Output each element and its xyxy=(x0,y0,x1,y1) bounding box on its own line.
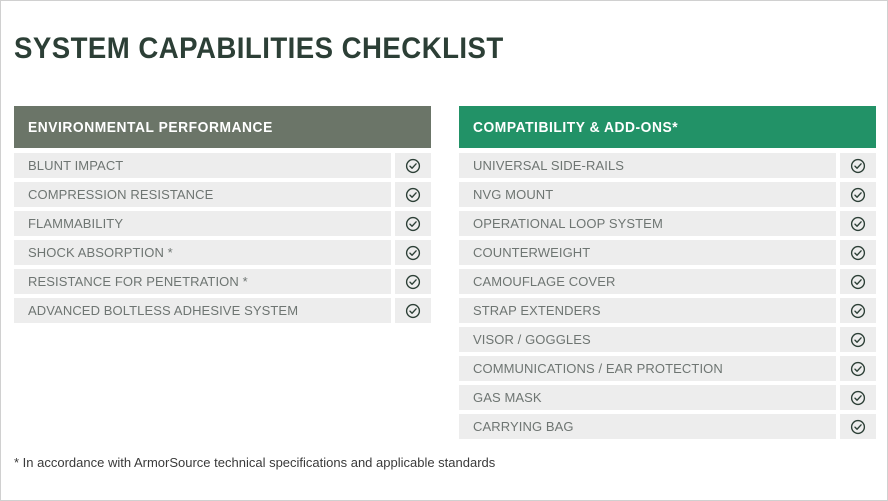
table-row[interactable]: CAMOUFLAGE COVER xyxy=(459,269,876,294)
row-label-cell: OPERATIONAL LOOP SYSTEM xyxy=(459,211,836,236)
checklist-rows-compatibility-add-ons: UNIVERSAL SIDE-RAILS NVG MOUNT xyxy=(459,153,876,439)
row-label: ADVANCED BOLTLESS ADHESIVE SYSTEM xyxy=(28,303,298,318)
row-check-cell xyxy=(395,182,431,207)
row-label: GAS MASK xyxy=(473,390,542,405)
row-label-cell: CAMOUFLAGE COVER xyxy=(459,269,836,294)
row-label: CAMOUFLAGE COVER xyxy=(473,274,615,289)
row-check-cell xyxy=(395,298,431,323)
check-circle-icon xyxy=(405,158,421,174)
row-label-cell: COMMUNICATIONS / EAR PROTECTION xyxy=(459,356,836,381)
row-check-cell xyxy=(840,240,876,265)
check-circle-icon xyxy=(850,332,866,348)
check-circle-icon xyxy=(850,216,866,232)
row-label: BLUNT IMPACT xyxy=(28,158,123,173)
table-row[interactable]: COMPRESSION RESISTANCE xyxy=(14,182,431,207)
table-row[interactable]: VISOR / GOGGLES xyxy=(459,327,876,352)
row-check-cell xyxy=(395,211,431,236)
row-label: SHOCK ABSORPTION * xyxy=(28,245,173,260)
row-check-cell xyxy=(840,211,876,236)
table-row[interactable]: COMMUNICATIONS / EAR PROTECTION xyxy=(459,356,876,381)
table-row[interactable]: RESISTANCE FOR PENETRATION * xyxy=(14,269,431,294)
row-label-cell: RESISTANCE FOR PENETRATION * xyxy=(14,269,391,294)
page-title: SYSTEM CAPABILITIES CHECKLIST xyxy=(14,32,504,66)
row-label-cell: SHOCK ABSORPTION * xyxy=(14,240,391,265)
table-row[interactable]: SHOCK ABSORPTION * xyxy=(14,240,431,265)
check-circle-icon xyxy=(850,390,866,406)
check-circle-icon xyxy=(850,245,866,261)
row-label: OPERATIONAL LOOP SYSTEM xyxy=(473,216,663,231)
checklist-rows-environmental-performance: BLUNT IMPACT COMPRESSION RESISTANCE xyxy=(14,153,431,323)
check-circle-icon xyxy=(850,158,866,174)
check-circle-icon xyxy=(405,187,421,203)
row-label-cell: CARRYING BAG xyxy=(459,414,836,439)
row-label: VISOR / GOGGLES xyxy=(473,332,591,347)
table-row[interactable]: UNIVERSAL SIDE-RAILS xyxy=(459,153,876,178)
checklist-column-environmental-performance: ENVIRONMENTAL PERFORMANCE BLUNT IMPACT xyxy=(14,106,431,443)
row-label: UNIVERSAL SIDE-RAILS xyxy=(473,158,624,173)
row-label: COUNTERWEIGHT xyxy=(473,245,590,260)
row-label: RESISTANCE FOR PENETRATION * xyxy=(28,274,248,289)
row-label-cell: NVG MOUNT xyxy=(459,182,836,207)
row-check-cell xyxy=(840,414,876,439)
row-check-cell xyxy=(395,153,431,178)
row-check-cell xyxy=(840,356,876,381)
table-row[interactable]: FLAMMABILITY xyxy=(14,211,431,236)
row-check-cell xyxy=(840,298,876,323)
row-check-cell xyxy=(840,153,876,178)
table-row[interactable]: COUNTERWEIGHT xyxy=(459,240,876,265)
footnote: * In accordance with ArmorSource technic… xyxy=(14,455,495,470)
table-row[interactable]: STRAP EXTENDERS xyxy=(459,298,876,323)
column-header-label: COMPATIBILITY & ADD-ONS* xyxy=(473,119,678,136)
table-row[interactable]: OPERATIONAL LOOP SYSTEM xyxy=(459,211,876,236)
row-label-cell: COUNTERWEIGHT xyxy=(459,240,836,265)
row-label-cell: COMPRESSION RESISTANCE xyxy=(14,182,391,207)
column-header-label: ENVIRONMENTAL PERFORMANCE xyxy=(28,119,273,136)
check-circle-icon xyxy=(850,187,866,203)
check-circle-icon xyxy=(405,274,421,290)
checklist-columns: ENVIRONMENTAL PERFORMANCE BLUNT IMPACT xyxy=(14,106,873,443)
row-check-cell xyxy=(395,269,431,294)
row-label-cell: ADVANCED BOLTLESS ADHESIVE SYSTEM xyxy=(14,298,391,323)
row-label-cell: UNIVERSAL SIDE-RAILS xyxy=(459,153,836,178)
row-label-cell: FLAMMABILITY xyxy=(14,211,391,236)
table-row[interactable]: NVG MOUNT xyxy=(459,182,876,207)
row-label-cell: GAS MASK xyxy=(459,385,836,410)
check-circle-icon xyxy=(405,216,421,232)
row-label: STRAP EXTENDERS xyxy=(473,303,601,318)
checklist-column-compatibility-add-ons: COMPATIBILITY & ADD-ONS* UNIVERSAL SIDE-… xyxy=(459,106,876,443)
row-label: FLAMMABILITY xyxy=(28,216,123,231)
column-header-compatibility-add-ons: COMPATIBILITY & ADD-ONS* xyxy=(459,106,876,148)
row-label: COMMUNICATIONS / EAR PROTECTION xyxy=(473,361,723,376)
checklist-page: SYSTEM CAPABILITIES CHECKLIST ENVIRONMEN… xyxy=(0,0,888,501)
row-label-cell: VISOR / GOGGLES xyxy=(459,327,836,352)
row-check-cell xyxy=(395,240,431,265)
row-label-cell: STRAP EXTENDERS xyxy=(459,298,836,323)
check-circle-icon xyxy=(850,303,866,319)
check-circle-icon xyxy=(405,245,421,261)
row-check-cell xyxy=(840,182,876,207)
table-row[interactable]: GAS MASK xyxy=(459,385,876,410)
table-row[interactable]: BLUNT IMPACT xyxy=(14,153,431,178)
row-label: COMPRESSION RESISTANCE xyxy=(28,187,213,202)
row-check-cell xyxy=(840,385,876,410)
check-circle-icon xyxy=(850,361,866,377)
row-label: NVG MOUNT xyxy=(473,187,553,202)
row-check-cell xyxy=(840,327,876,352)
table-row[interactable]: ADVANCED BOLTLESS ADHESIVE SYSTEM xyxy=(14,298,431,323)
check-circle-icon xyxy=(850,419,866,435)
column-header-environmental-performance: ENVIRONMENTAL PERFORMANCE xyxy=(14,106,431,148)
check-circle-icon xyxy=(850,274,866,290)
check-circle-icon xyxy=(405,303,421,319)
table-row[interactable]: CARRYING BAG xyxy=(459,414,876,439)
row-label: CARRYING BAG xyxy=(473,419,574,434)
row-label-cell: BLUNT IMPACT xyxy=(14,153,391,178)
row-check-cell xyxy=(840,269,876,294)
